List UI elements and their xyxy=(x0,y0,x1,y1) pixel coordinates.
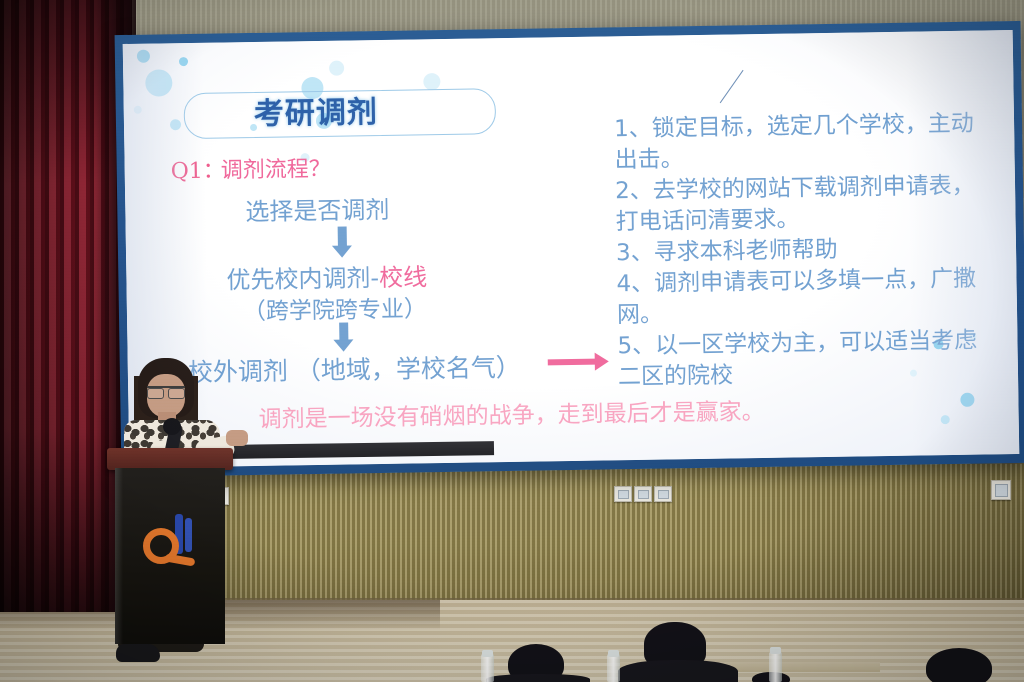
water-bottle-cap xyxy=(482,650,493,657)
decorative-dot xyxy=(145,69,172,96)
podium-logo xyxy=(141,514,207,580)
audience-shoulder xyxy=(486,674,590,682)
question-label: Q1： xyxy=(170,152,225,185)
decorative-dot xyxy=(137,50,150,63)
flow-arrow-down-1 xyxy=(338,227,347,247)
water-bottle xyxy=(607,654,620,682)
wall-outlet-plate-center-a xyxy=(614,486,632,502)
microphone-head xyxy=(163,418,181,435)
decorative-dot xyxy=(179,57,188,66)
logo-letter-l-accent xyxy=(185,518,192,552)
list-item: 5、以一区学校为主，可以适当考虑 xyxy=(617,325,1015,362)
decorative-dot xyxy=(170,119,181,130)
wall-outlet-plate-center-c xyxy=(654,486,672,502)
water-bottle-cap xyxy=(608,650,619,657)
list-item: 4、调剂申请表可以多填一点，广撒 xyxy=(616,263,1014,300)
lecture-hall-photo: 考研调剂 Q1： 调剂流程？ 选择是否调剂 优先校内调剂-校线 （跨学院跨专业）… xyxy=(0,0,1024,682)
presenter-hand-right xyxy=(226,430,248,446)
audience-shoulder xyxy=(618,660,738,682)
flow-arrow-down-2 xyxy=(339,323,348,341)
podium xyxy=(107,448,233,644)
water-bottle-cap xyxy=(770,647,781,654)
wall-outlet-plate-center-b xyxy=(634,486,652,502)
podium-edge-highlight xyxy=(115,468,123,644)
decorative-dot xyxy=(329,61,344,76)
decorative-dot xyxy=(423,73,440,90)
presenter-glasses xyxy=(147,386,185,396)
flow-step-2-sub: （跨学院跨专业） xyxy=(243,289,428,326)
list-item: 1、锁定目标，选定几个学校，主动 xyxy=(614,108,1012,145)
podium-top-surface xyxy=(107,448,233,470)
slide-title: 考研调剂 xyxy=(254,90,495,136)
decorative-dot xyxy=(941,415,950,424)
flow-arrow-right xyxy=(548,359,596,366)
list-item: 2、去学校的网站下载调剂申请表， xyxy=(615,170,1013,207)
logo-q-tail xyxy=(165,553,196,566)
wall-outlet-plate-right xyxy=(991,480,1011,500)
flow-step-1: 选择是否调剂 xyxy=(245,190,390,227)
projection-screen-frame: 考研调剂 Q1： 调剂流程？ 选择是否调剂 优先校内调剂-校线 （跨学院跨专业）… xyxy=(115,21,1024,477)
list-item: 二区的院校 xyxy=(618,356,1016,393)
flow-step-2-pink: 校线 xyxy=(379,263,427,292)
slide-right-list: 1、锁定目标，选定几个学校，主动 出击。 2、去学校的网站下载调剂申请表， 打电… xyxy=(614,108,1016,393)
audience-head xyxy=(926,648,992,682)
water-bottle xyxy=(481,654,494,682)
water-bottle xyxy=(769,652,782,682)
question-text: 调剂流程？ xyxy=(220,151,331,185)
presentation-slide: 考研调剂 Q1： 调剂流程？ 选择是否调剂 优先校内调剂-校线 （跨学院跨专业）… xyxy=(123,30,1020,468)
presenter-shoe xyxy=(116,644,160,662)
decorative-dot xyxy=(134,106,142,114)
slide-tagline: 调剂是一场没有硝烟的战争，走到最后才是赢家。 xyxy=(258,392,764,434)
decorative-dot xyxy=(960,393,974,407)
